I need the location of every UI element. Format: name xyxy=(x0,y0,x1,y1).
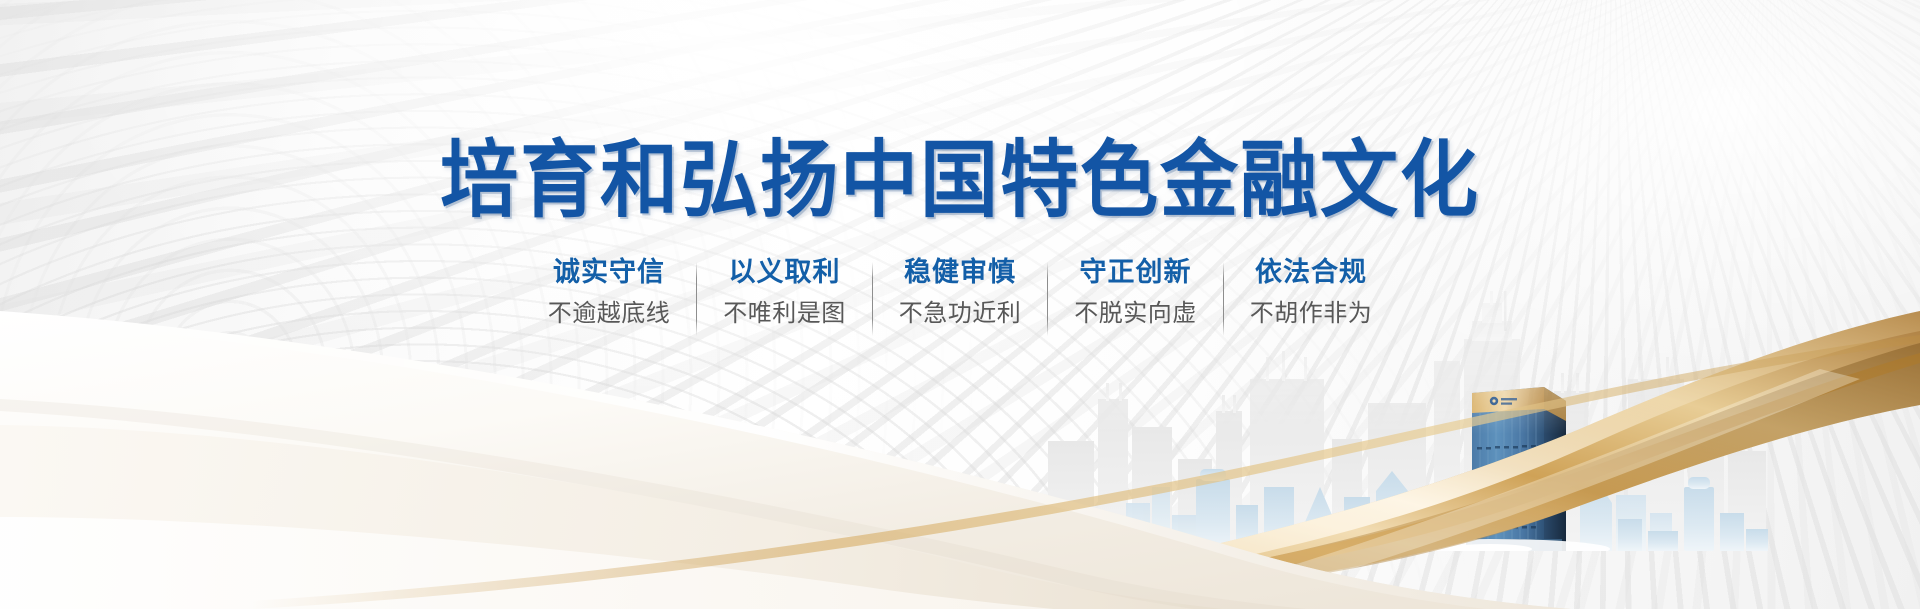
pillar-item-0: 诚实守信 不逾越底线 xyxy=(522,258,697,327)
pillar-item-3: 守正创新 不脱实向虚 xyxy=(1048,258,1223,327)
pillar-title: 诚实守信 xyxy=(553,258,665,288)
pillar-subtitle: 不唯利是图 xyxy=(723,300,846,327)
pillar-title: 稳健审慎 xyxy=(904,258,1016,288)
pillar-subtitle: 不胡作非为 xyxy=(1250,300,1373,327)
pillar-subtitle: 不逾越底线 xyxy=(548,300,671,327)
pillar-title: 守正创新 xyxy=(1080,258,1192,288)
pillar-item-2: 稳健审慎 不急功近利 xyxy=(873,258,1048,327)
pillar-item-1: 以义取利 不唯利是图 xyxy=(697,258,872,327)
pillar-title: 依法合规 xyxy=(1255,258,1367,288)
pillar-subtitle: 不脱实向虚 xyxy=(1074,300,1197,327)
pillar-item-4: 依法合规 不胡作非为 xyxy=(1224,258,1399,327)
pillar-list: 诚实守信 不逾越底线 以义取利 不唯利是图 稳健审慎 不急功近利 守正创新 不脱… xyxy=(522,258,1399,336)
page-title: 培育和弘扬中国特色金融文化 xyxy=(440,138,1480,222)
pillar-subtitle: 不急功近利 xyxy=(899,300,1022,327)
pillar-title: 以义取利 xyxy=(729,258,841,288)
finance-culture-banner: 培育和弘扬中国特色金融文化 诚实守信 不逾越底线 以义取利 不唯利是图 稳健审慎… xyxy=(0,0,1920,609)
banner-content: 培育和弘扬中国特色金融文化 诚实守信 不逾越底线 以义取利 不唯利是图 稳健审慎… xyxy=(0,0,1920,609)
